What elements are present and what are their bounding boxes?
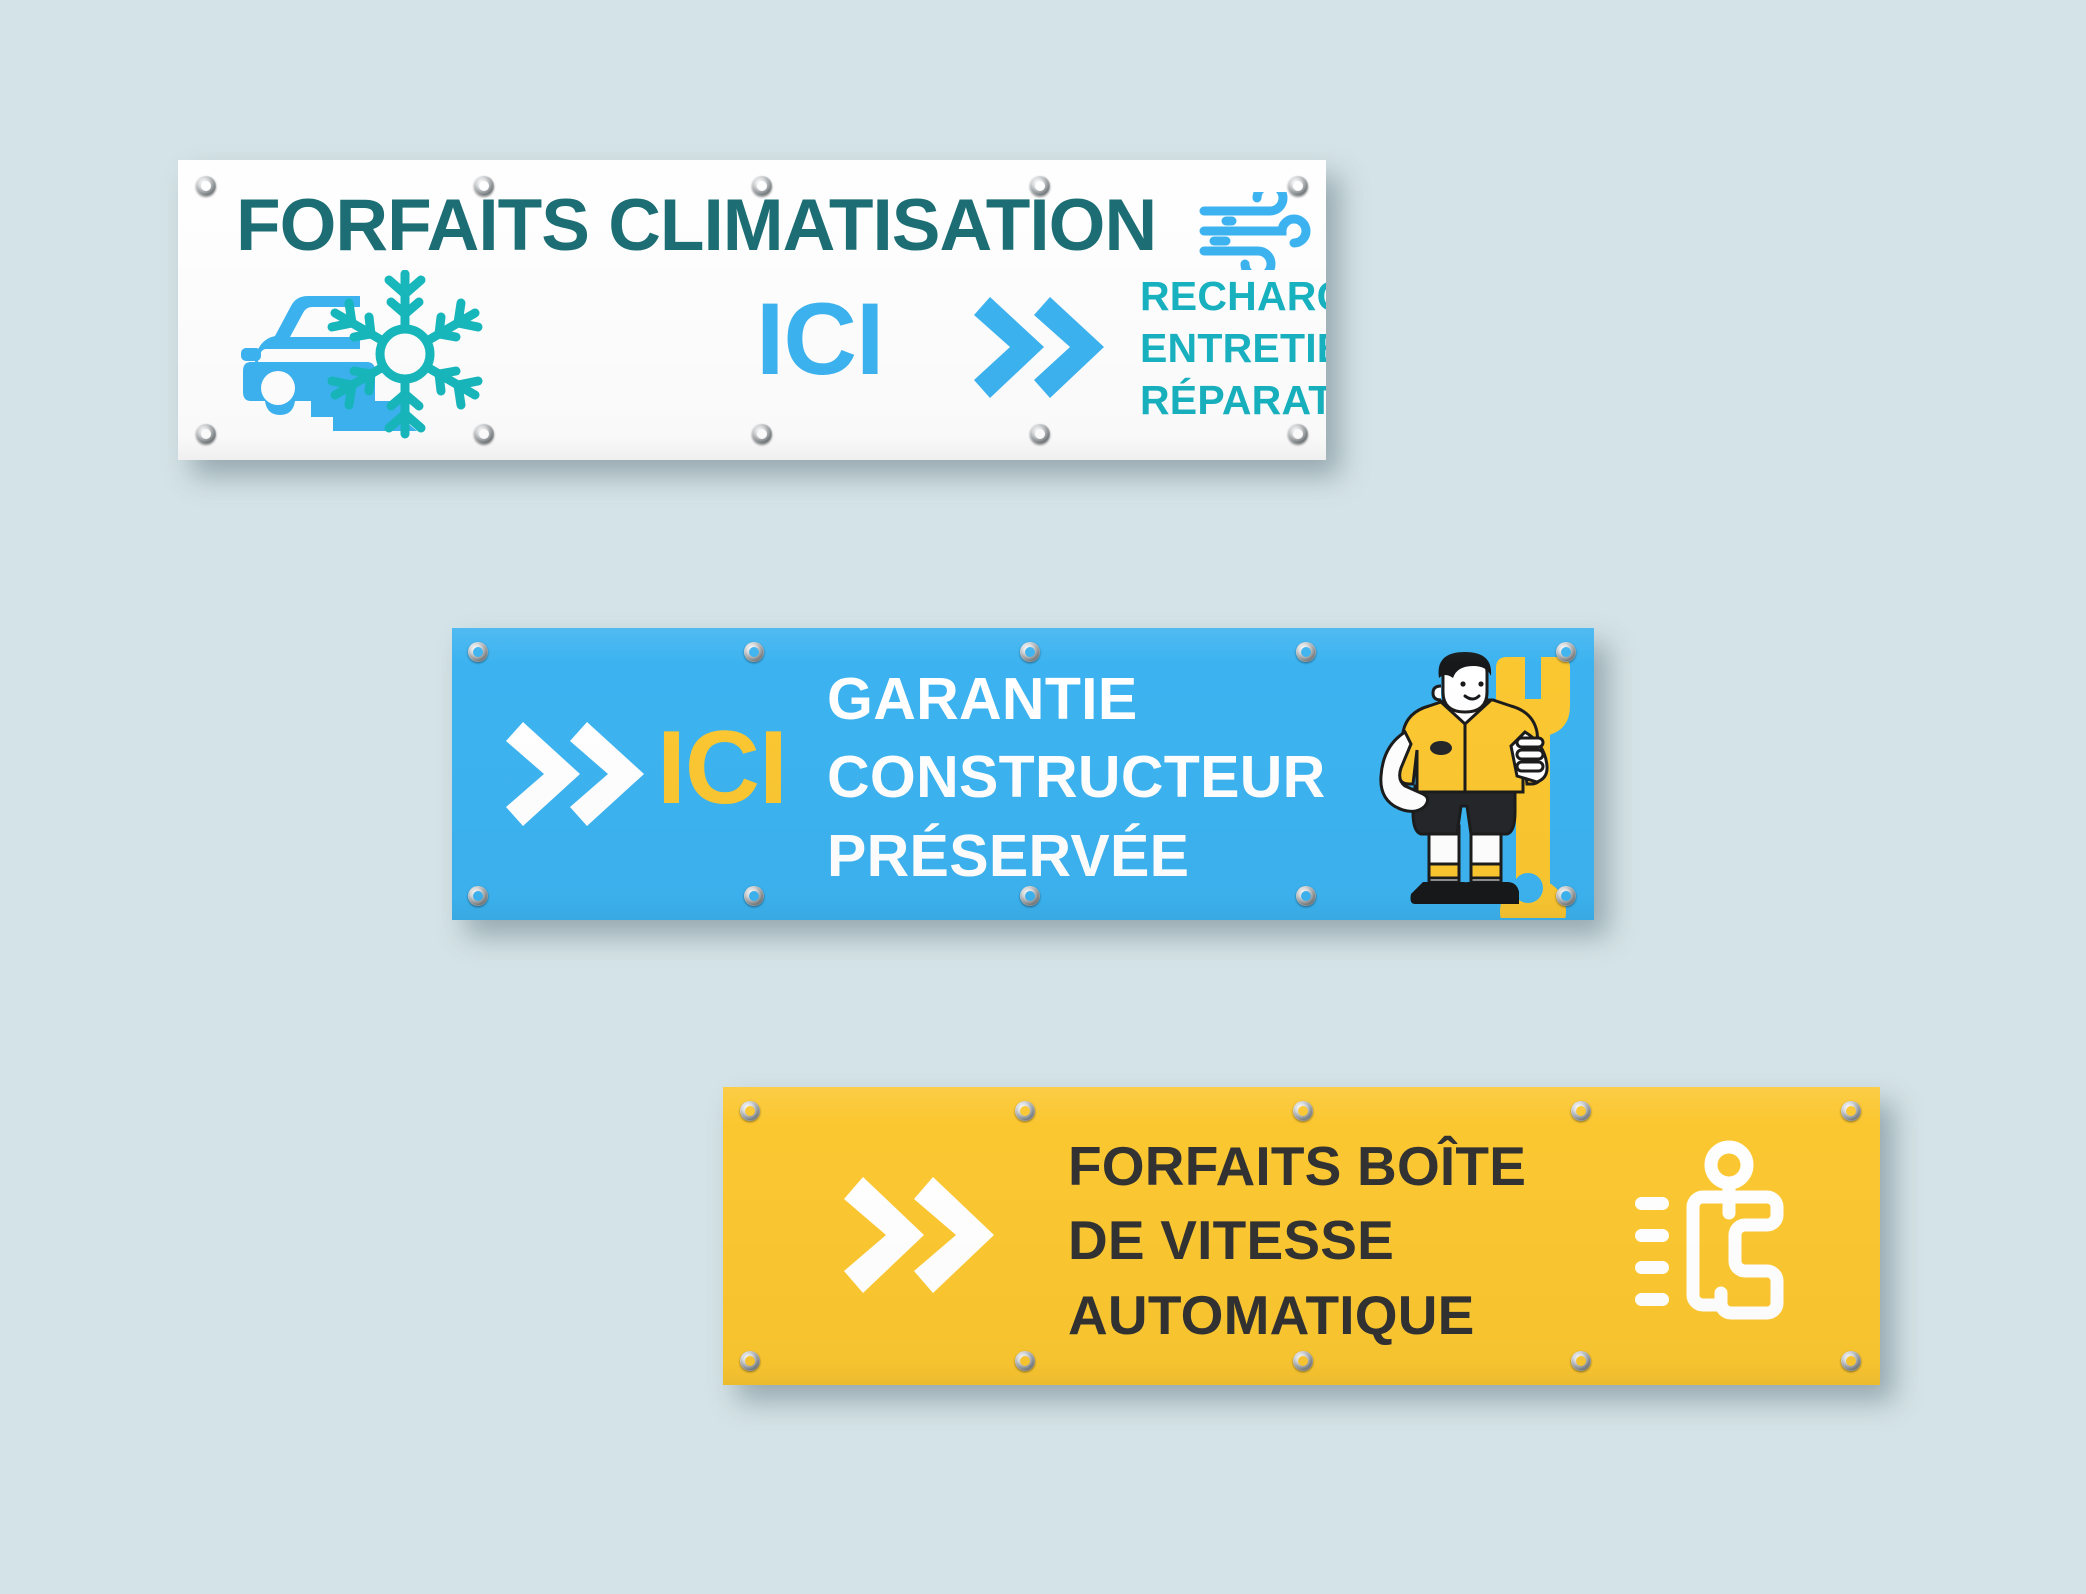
message-line: CONSTRUCTEUR — [827, 738, 1326, 816]
banner1-here-label: ICI — [756, 288, 883, 390]
grommet — [196, 424, 216, 444]
wind-icon — [1196, 192, 1314, 270]
grommet — [1020, 886, 1040, 906]
message-line: DE VITESSE — [1068, 1203, 1526, 1277]
grommet — [740, 1101, 760, 1121]
car-snowflake-icon — [233, 270, 528, 440]
grommet — [1841, 1351, 1861, 1371]
banner2-message: GARANTIE CONSTRUCTEUR PRÉSERVÉE — [827, 660, 1326, 895]
message-line: PRÉSERVÉE — [827, 817, 1326, 895]
grommet — [196, 176, 216, 196]
banner1-services-list: RECHARGE ENTRETIEN RÉPARATION — [1140, 270, 1326, 426]
message-line: GARANTIE — [827, 660, 1326, 738]
grommet — [1556, 886, 1576, 906]
grommet — [468, 886, 488, 906]
banner-canvas: FORFAITS CLIMATISATION — [0, 0, 2086, 1594]
banner1-title: FORFAITS CLIMATISATION — [236, 184, 1156, 267]
grommet — [752, 424, 772, 444]
banner-garantie[interactable]: ICI GARANTIE CONSTRUCTEUR PRÉSERVÉE — [452, 628, 1594, 920]
banner-boite-vitesse[interactable]: FORFAITS BOÎTE DE VITESSE AUTOMATIQUE — [723, 1087, 1880, 1385]
grommet — [1296, 886, 1316, 906]
grommet — [1015, 1351, 1035, 1371]
grommet — [1030, 424, 1050, 444]
grommet — [1288, 424, 1308, 444]
grommet — [740, 1351, 760, 1371]
grommet — [744, 642, 764, 662]
grommet — [1020, 642, 1040, 662]
grommet — [1296, 642, 1316, 662]
grommet — [1556, 642, 1576, 662]
grommet — [1841, 1101, 1861, 1121]
double-chevron-right-icon — [968, 295, 1108, 400]
grommet — [1288, 176, 1308, 196]
double-chevron-right-icon — [838, 1175, 998, 1295]
grommet — [1293, 1351, 1313, 1371]
service-item: ENTRETIEN — [1140, 322, 1326, 374]
message-line: FORFAITS BOÎTE — [1068, 1129, 1526, 1203]
grommet — [752, 176, 772, 196]
grommet — [1571, 1101, 1591, 1121]
grommet — [474, 176, 494, 196]
grommet — [1030, 176, 1050, 196]
message-line: AUTOMATIQUE — [1068, 1278, 1526, 1352]
grommet — [1015, 1101, 1035, 1121]
grommet — [468, 642, 488, 662]
grommet — [744, 886, 764, 906]
service-item: RECHARGE — [1140, 270, 1326, 322]
grommet — [1571, 1351, 1591, 1371]
gearbox-shifter-icon — [1633, 1137, 1823, 1342]
double-chevron-right-icon — [500, 720, 648, 828]
grommet — [474, 424, 494, 444]
banner-climatisation[interactable]: FORFAITS CLIMATISATION — [178, 160, 1326, 460]
service-item: RÉPARATION — [1140, 374, 1326, 426]
grommet — [1293, 1101, 1313, 1121]
banner3-message: FORFAITS BOÎTE DE VITESSE AUTOMATIQUE — [1068, 1129, 1526, 1352]
mechanic-with-wrench-icon — [1337, 650, 1594, 918]
banner2-here-label: ICI — [657, 716, 787, 820]
